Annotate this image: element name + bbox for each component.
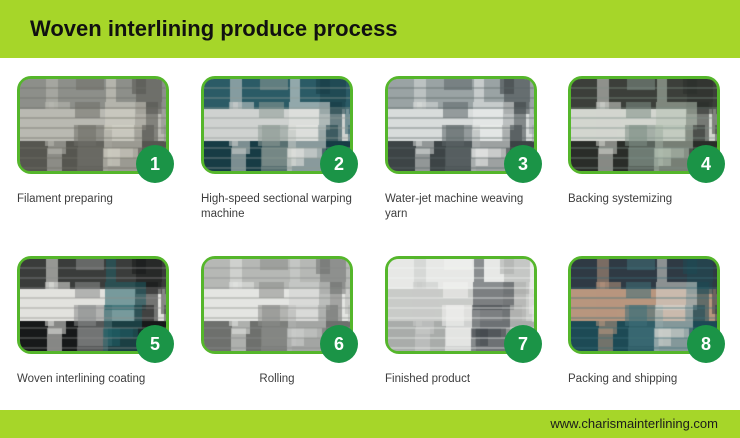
step-label: Packing and shipping [568,372,728,387]
step-label: Rolling [201,372,353,387]
step-photo-frame: 2 [201,76,353,174]
step-number-badge: 8 [687,325,725,363]
step-number-badge: 3 [504,145,542,183]
website-url[interactable]: www.charismainterlining.com [550,416,718,431]
process-step-card[interactable]: 3Water-jet machine weaving yarn [385,76,537,222]
step-photo-frame: 1 [17,76,169,174]
step-label: Water-jet machine weaving yarn [385,192,545,222]
step-label: Finished product [385,372,545,387]
process-step-card[interactable]: 4Backing systemizing [568,76,720,207]
step-label: Filament preparing [17,192,177,207]
process-step-card[interactable]: 6Rolling [201,256,353,387]
step-photo-frame: 6 [201,256,353,354]
step-label: Woven interlining coating [17,372,177,387]
step-photo-frame: 4 [568,76,720,174]
process-step-card[interactable]: 7Finished product [385,256,537,387]
process-step-card[interactable]: 1Filament preparing [17,76,169,207]
footer-bar: www.charismainterlining.com [0,410,740,438]
step-number-badge: 4 [687,145,725,183]
step-photo-frame: 8 [568,256,720,354]
process-grid: 1Filament preparing2High-speed sectional… [0,58,740,410]
step-number-badge: 2 [320,145,358,183]
step-photo-frame: 3 [385,76,537,174]
process-step-card[interactable]: 2High-speed sectional warping machine [201,76,353,222]
step-number-badge: 6 [320,325,358,363]
process-step-card[interactable]: 8Packing and shipping [568,256,720,387]
step-label: High-speed sectional warping machine [201,192,361,222]
process-step-card[interactable]: 5Woven interlining coating [17,256,169,387]
step-number-badge: 7 [504,325,542,363]
step-label: Backing systemizing [568,192,728,207]
step-photo-frame: 5 [17,256,169,354]
step-number-badge: 1 [136,145,174,183]
step-photo-frame: 7 [385,256,537,354]
header-banner: Woven interlining produce process [0,0,740,58]
step-number-badge: 5 [136,325,174,363]
page-title: Woven interlining produce process [30,16,398,42]
